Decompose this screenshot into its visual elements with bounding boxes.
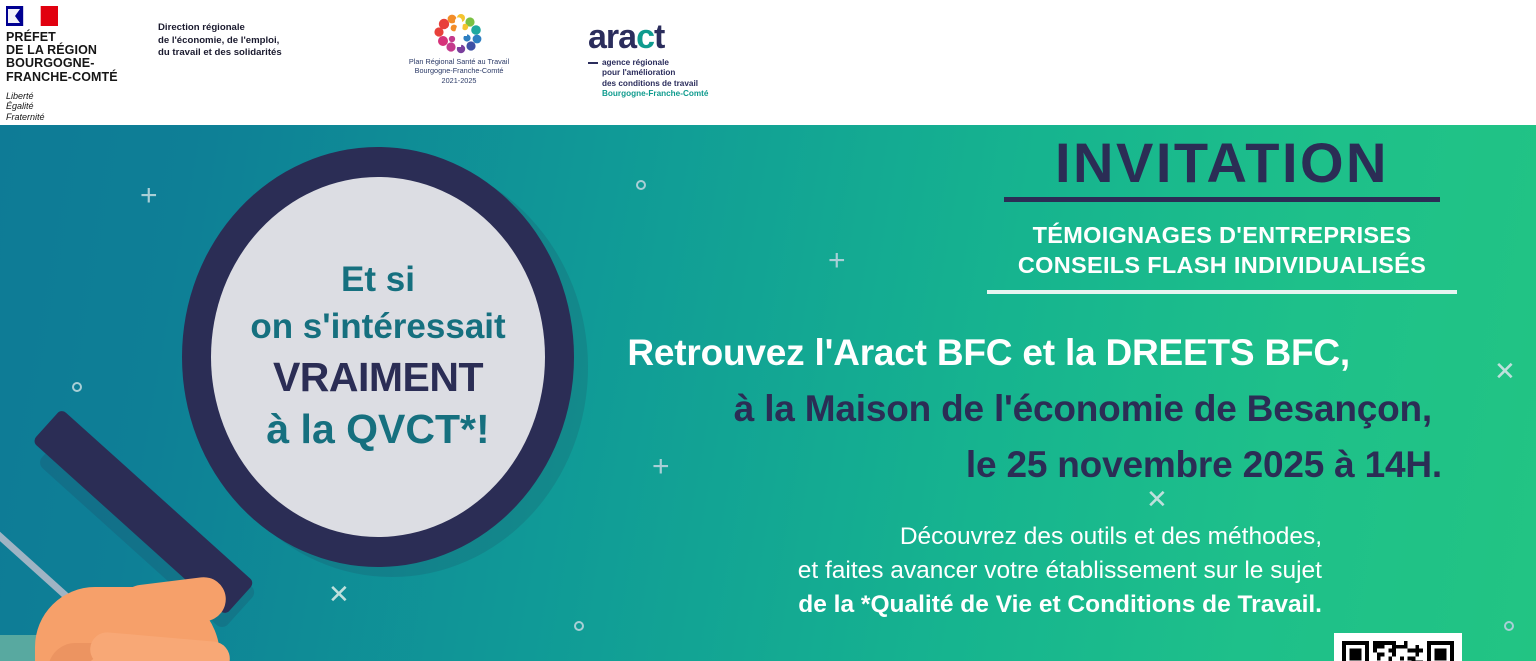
- event-line-1: Retrouvez l'Aract BFC et la DREETS BFC,: [600, 325, 1480, 381]
- circle-decoration-icon: [1504, 621, 1514, 631]
- invitation-subtitle-line2: CONSEILS FLASH INDIVIDUALISÉS: [972, 250, 1472, 280]
- aract-word-part1: ara: [588, 18, 636, 56]
- aract-logo-block: aract agence régionale pour l'améliorati…: [588, 20, 768, 100]
- plus-decoration-icon: +: [828, 246, 846, 276]
- aract-dash-divider: [588, 62, 598, 64]
- prefet-title: PRÉFET DE LA RÉGION BOURGOGNE- FRANCHE-C…: [6, 31, 146, 84]
- hand-illustration: [0, 565, 260, 661]
- x-decoration-icon: ✕: [1494, 358, 1516, 384]
- qr-code-svg: [1342, 641, 1454, 661]
- event-line-3: le 25 novembre 2025 à 14H.: [600, 437, 1480, 493]
- lens-line-3: VRAIMENT: [273, 351, 483, 403]
- aract-word-part3: t: [654, 18, 664, 56]
- prst-logo-block: Plan Régional Santé au Travail Bourgogne…: [404, 14, 514, 85]
- prst-mark-icon: [432, 14, 486, 54]
- title-underline-rule: [1004, 197, 1440, 202]
- dreets-text-block: Direction régionale de l'économie, de l'…: [158, 22, 338, 60]
- subtitle-underline-rule: [987, 290, 1457, 294]
- prst-caption: Plan Régional Santé au Travail Bourgogne…: [404, 57, 514, 85]
- description-block: Découvrez des outils et des méthodes, et…: [600, 520, 1322, 622]
- description-line-1: Découvrez des outils et des méthodes,: [600, 520, 1322, 554]
- aract-sub-line3: des conditions de travail: [602, 79, 768, 89]
- magnifying-glass-illustration: Et si on s'intéressait VRAIMENT à la QVC…: [0, 125, 640, 661]
- prst-colorful-icon: [432, 14, 486, 54]
- marianne-flag-svg: [6, 6, 58, 26]
- lens-slogan: Et si on s'intéressait VRAIMENT à la QVC…: [211, 177, 545, 537]
- prefet-logo-block: PRÉFET DE LA RÉGION BOURGOGNE- FRANCHE-C…: [6, 6, 146, 122]
- aract-wordmark: aract: [588, 20, 768, 54]
- lens-line-1: Et si: [341, 259, 415, 301]
- invitation-subtitle-line1: TÉMOIGNAGES D'ENTREPRISES: [972, 220, 1472, 250]
- description-line-3: de la *Qualité de Vie et Conditions de T…: [600, 588, 1322, 622]
- invitation-title: INVITATION: [972, 133, 1472, 193]
- gradient-banner: + + + ✕ ✕ ✕ Et si on s'intéressait VRAIM…: [0, 125, 1536, 661]
- logo-header-strip: PRÉFET DE LA RÉGION BOURGOGNE- FRANCHE-C…: [0, 0, 1536, 125]
- invitation-banner-page: PRÉFET DE LA RÉGION BOURGOGNE- FRANCHE-C…: [0, 0, 1536, 661]
- lens-line-2: on s'intéressait: [250, 303, 505, 351]
- french-flag-icon: [6, 6, 58, 26]
- lens-line-4: à la QVCT*!: [266, 403, 489, 455]
- prefet-devise: LibertéÉgalitéFraternité: [6, 91, 146, 123]
- aract-sub-line1: agence régionale: [602, 58, 768, 68]
- invitation-subtitle: TÉMOIGNAGES D'ENTREPRISES CONSEILS FLASH…: [972, 220, 1472, 280]
- event-details-block: Retrouvez l'Aract BFC et la DREETS BFC, …: [600, 325, 1480, 493]
- aract-subtitle: agence régionale pour l'amélioration des…: [602, 58, 768, 100]
- description-line-2: et faites avancer votre établissement su…: [600, 554, 1322, 588]
- event-line-2: à la Maison de l'économie de Besançon,: [600, 381, 1480, 437]
- aract-word-part2: c: [636, 18, 654, 56]
- qr-code[interactable]: [1334, 633, 1462, 661]
- aract-sub-line2: pour l'amélioration: [602, 68, 768, 78]
- thumb-shape: [118, 575, 229, 632]
- invitation-heading-block: INVITATION TÉMOIGNAGES D'ENTREPRISES CON…: [972, 133, 1472, 294]
- aract-sub-line4: Bourgogne-Franche-Comté: [602, 89, 768, 99]
